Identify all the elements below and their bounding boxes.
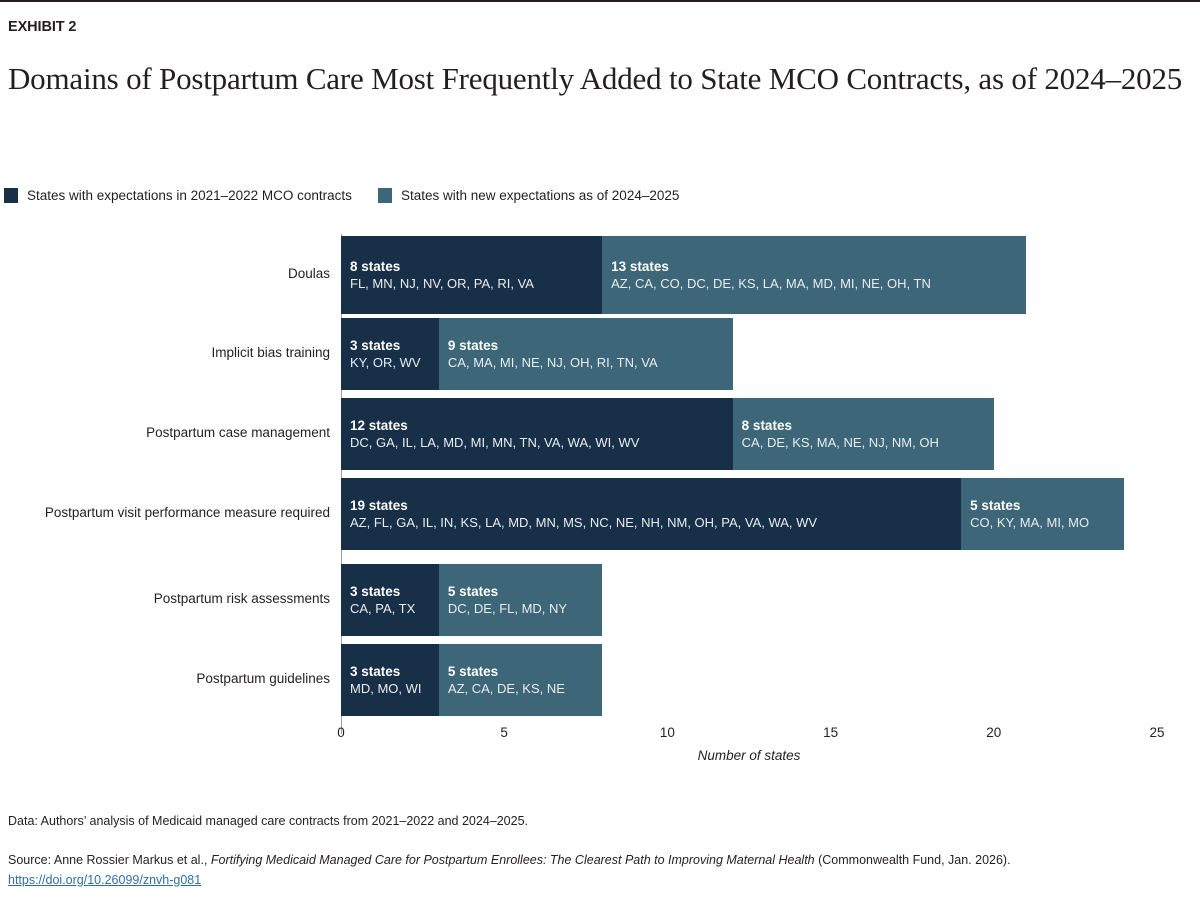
segment-count-label: 5 states	[448, 583, 602, 600]
footnote-source-prefix: Source: Anne Rossier Markus et al.,	[8, 853, 211, 867]
segment-count-label: 3 states	[350, 663, 439, 680]
stacked-bar[interactable]: 3 statesCA, PA, TX5 statesDC, DE, FL, MD…	[341, 564, 602, 636]
category-label: Doulas	[0, 266, 330, 281]
stacked-bar[interactable]: 3 statesMD, MO, WI5 statesAZ, CA, DE, KS…	[341, 644, 602, 716]
page-title: Domains of Postpartum Care Most Frequent…	[8, 60, 1188, 98]
segment-count-label: 8 states	[742, 417, 994, 434]
exhibit-page: EXHIBIT 2 Domains of Postpartum Care Mos…	[0, 0, 1200, 915]
footnote-source-title: Fortifying Medicaid Managed Care for Pos…	[211, 853, 815, 867]
legend-label-old: States with expectations in 2021–2022 MC…	[27, 188, 352, 203]
segment-states-list: AZ, FL, GA, IL, IN, KS, LA, MD, MN, MS, …	[350, 514, 961, 531]
x-tick-label: 15	[823, 725, 838, 740]
segment-count-label: 19 states	[350, 497, 961, 514]
segment-states-list: DC, DE, FL, MD, NY	[448, 600, 602, 617]
segment-count-label: 12 states	[350, 417, 733, 434]
stacked-bar[interactable]: 3 statesKY, OR, WV9 statesCA, MA, MI, NE…	[341, 318, 733, 390]
segment-states-list: CA, PA, TX	[350, 600, 439, 617]
category-label: Postpartum visit performance measure req…	[0, 505, 330, 520]
bar-segment-old[interactable]: 12 statesDC, GA, IL, LA, MD, MI, MN, TN,…	[341, 398, 733, 470]
segment-count-label: 3 states	[350, 583, 439, 600]
bar-segment-new[interactable]: 13 statesAZ, CA, CO, DC, DE, KS, LA, MA,…	[602, 236, 1026, 314]
bar-segment-old[interactable]: 19 statesAZ, FL, GA, IL, IN, KS, LA, MD,…	[341, 478, 961, 550]
bar-segment-old[interactable]: 3 statesKY, OR, WV	[341, 318, 439, 390]
segment-states-list: CA, MA, MI, NE, NJ, OH, RI, TN, VA	[448, 354, 733, 371]
footnote-data: Data: Authors’ analysis of Medicaid mana…	[8, 812, 1192, 830]
bar-segment-old[interactable]: 8 statesFL, MN, NJ, NV, OR, PA, RI, VA	[341, 236, 602, 314]
footnote-source-suffix: (Commonwealth Fund, Jan. 2026).	[815, 853, 1011, 867]
bar-segment-old[interactable]: 3 statesCA, PA, TX	[341, 564, 439, 636]
segment-states-list: DC, GA, IL, LA, MD, MI, MN, TN, VA, WA, …	[350, 434, 733, 451]
segment-count-label: 5 states	[970, 497, 1124, 514]
segment-count-label: 13 states	[611, 258, 1026, 275]
bar-segment-old[interactable]: 3 statesMD, MO, WI	[341, 644, 439, 716]
chart-plot-area: Doulas8 statesFL, MN, NJ, NV, OR, PA, RI…	[0, 225, 1200, 725]
segment-states-list: KY, OR, WV	[350, 354, 439, 371]
category-label: Implicit bias training	[0, 345, 330, 360]
legend-label-new: States with new expectations as of 2024–…	[401, 188, 679, 203]
bar-segment-new[interactable]: 5 statesDC, DE, FL, MD, NY	[439, 564, 602, 636]
x-tick-label: 0	[337, 725, 345, 740]
chart-legend: States with expectations in 2021–2022 MC…	[4, 188, 679, 203]
segment-states-list: MD, MO, WI	[350, 680, 439, 697]
bar-segment-new[interactable]: 5 statesCO, KY, MA, MI, MO	[961, 478, 1124, 550]
segment-count-label: 8 states	[350, 258, 602, 275]
stacked-bar[interactable]: 19 statesAZ, FL, GA, IL, IN, KS, LA, MD,…	[341, 478, 1124, 550]
x-axis-label: Number of states	[341, 748, 1157, 763]
x-tick-label: 25	[1149, 725, 1164, 740]
top-rule	[0, 0, 1200, 2]
legend-swatch-new	[378, 188, 392, 203]
doi-link[interactable]: https://doi.org/10.26099/znvh-g081	[8, 871, 201, 889]
segment-states-list: AZ, CA, CO, DC, DE, KS, LA, MA, MD, MI, …	[611, 275, 1026, 292]
x-tick-label: 20	[986, 725, 1001, 740]
bar-segment-new[interactable]: 8 statesCA, DE, KS, MA, NE, NJ, NM, OH	[733, 398, 994, 470]
segment-states-list: FL, MN, NJ, NV, OR, PA, RI, VA	[350, 275, 602, 292]
stacked-bar[interactable]: 12 statesDC, GA, IL, LA, MD, MI, MN, TN,…	[341, 398, 994, 470]
category-label: Postpartum risk assessments	[0, 591, 330, 606]
segment-states-list: CO, KY, MA, MI, MO	[970, 514, 1124, 531]
category-label: Postpartum guidelines	[0, 671, 330, 686]
stacked-bar[interactable]: 8 statesFL, MN, NJ, NV, OR, PA, RI, VA13…	[341, 236, 1026, 314]
segment-states-list: AZ, CA, DE, KS, NE	[448, 680, 602, 697]
segment-states-list: CA, DE, KS, MA, NE, NJ, NM, OH	[742, 434, 994, 451]
segment-count-label: 9 states	[448, 337, 733, 354]
segment-count-label: 5 states	[448, 663, 602, 680]
legend-swatch-old	[4, 188, 18, 203]
footnotes: Data: Authors’ analysis of Medicaid mana…	[8, 812, 1192, 889]
exhibit-label: EXHIBIT 2	[8, 19, 76, 35]
bar-segment-new[interactable]: 5 statesAZ, CA, DE, KS, NE	[439, 644, 602, 716]
segment-count-label: 3 states	[350, 337, 439, 354]
legend-item-new[interactable]: States with new expectations as of 2024–…	[378, 188, 679, 203]
legend-item-old[interactable]: States with expectations in 2021–2022 MC…	[4, 188, 352, 203]
footnote-source: Source: Anne Rossier Markus et al., Fort…	[8, 851, 1192, 889]
x-tick-label: 5	[500, 725, 508, 740]
x-tick-label: 10	[660, 725, 675, 740]
bar-segment-new[interactable]: 9 statesCA, MA, MI, NE, NJ, OH, RI, TN, …	[439, 318, 733, 390]
category-label: Postpartum case management	[0, 425, 330, 440]
